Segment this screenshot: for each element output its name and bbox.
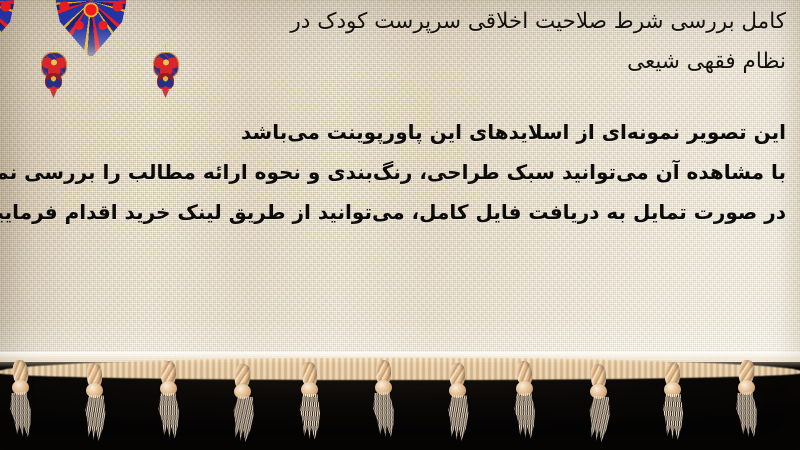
bottom-black-band — [0, 362, 800, 450]
slide-body-line-3: در صورت تمایل به دریافت فایل کامل، می‌تو… — [14, 192, 786, 232]
medallion-left-pendant-small-icon — [45, 73, 62, 90]
slide-body-line-1: این تصویر نمونه‌ای از اسلایدهای این پاور… — [14, 112, 786, 152]
slide-body-text: این تصویر نمونه‌ای از اسلایدهای این پاور… — [14, 112, 786, 232]
slide-title: کامل بررسی شرط صلاحیت اخلاقی سرپرست کودک… — [226, 2, 786, 82]
medallion-right-pendant-small-icon — [157, 73, 174, 90]
slide-title-line-1: کامل بررسی شرط صلاحیت اخلاقی سرپرست کودک… — [226, 2, 786, 42]
slide-title-line-2: نظام فقهی شیعی — [226, 42, 786, 82]
presentation-slide: کامل بررسی شرط صلاحیت اخلاقی سرپرست کودک… — [0, 0, 800, 450]
slide-body-line-2: با مشاهده آن می‌توانید سبک طراحی، رنگ‌بن… — [14, 152, 786, 192]
